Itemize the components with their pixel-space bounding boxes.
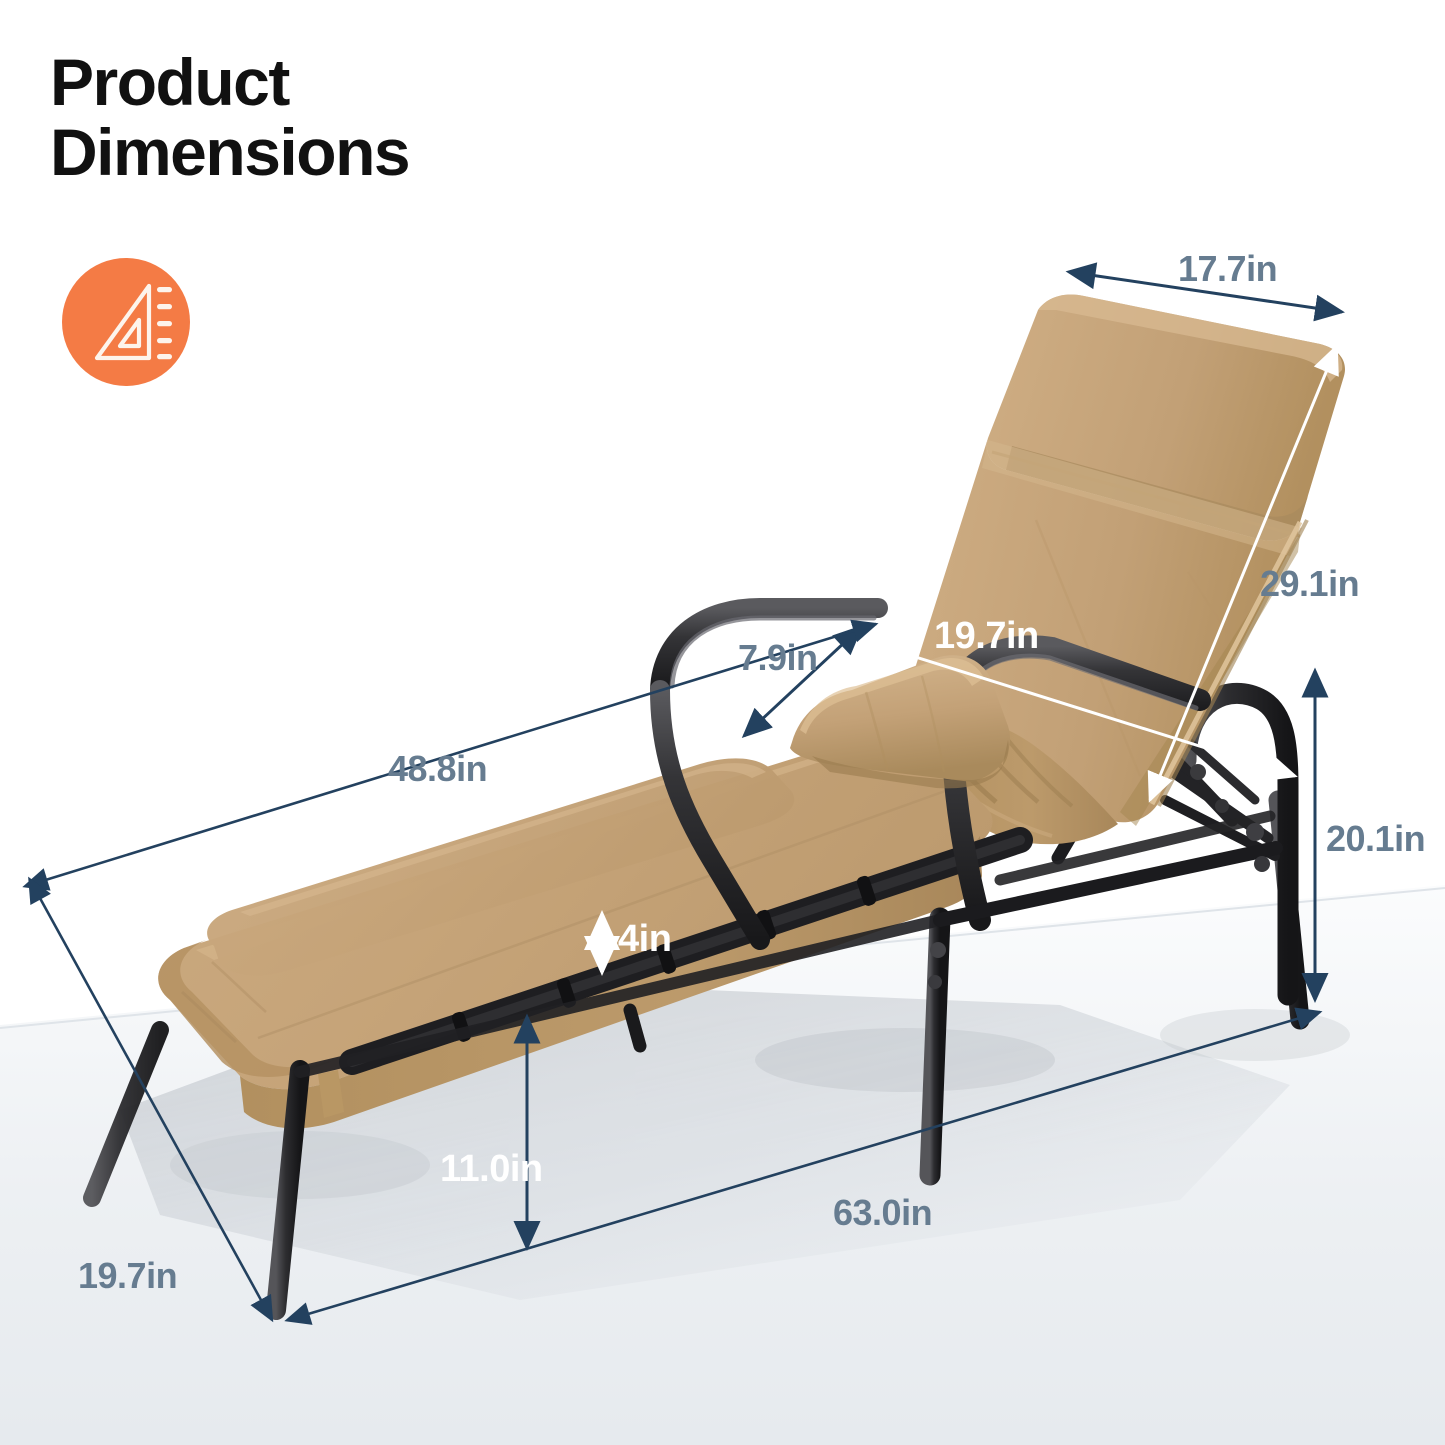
dim-label-back-frame-height: 20.1in [1326, 818, 1425, 860]
ruler-triangle-icon [62, 258, 190, 386]
page-title: Product Dimensions [50, 48, 409, 188]
dim-label-seat-height: 11.0in [440, 1148, 543, 1191]
dim-label-pillow-height: 7.9in [738, 637, 818, 679]
dim-label-overall-length: 63.0in [833, 1192, 932, 1234]
product-illustration [0, 0, 1445, 1445]
dim-label-overall-width: 19.7in [78, 1255, 177, 1297]
dim-label-width-top: 17.7in [1178, 248, 1277, 290]
dim-label-seat-back-depth: 19.7in [934, 615, 1039, 658]
product-dimensions-diagram: Product Dimensions 17.7in 29.1in 19.7in … [0, 0, 1445, 1445]
dim-label-cushion-thickness: 4in [618, 918, 671, 961]
dim-label-back-length: 29.1in [1260, 563, 1359, 605]
dim-label-surface-length: 48.8in [388, 748, 487, 790]
